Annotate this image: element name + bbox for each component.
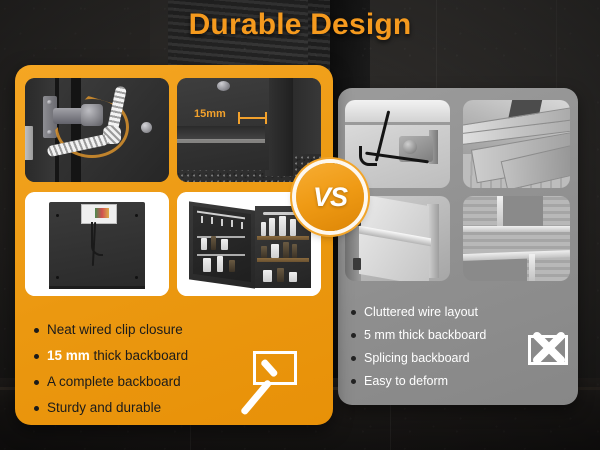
good-bullet-2-highlight: 15 mm	[47, 348, 90, 363]
bullet-dot-icon	[351, 379, 356, 384]
bullet-dot-icon	[34, 354, 39, 359]
good-bullet-4: Sturdy and durable	[47, 400, 161, 416]
cross-icon	[525, 325, 573, 371]
bullet-dot-icon	[34, 380, 39, 385]
list-item: 15 mm thick backboard	[34, 348, 259, 364]
bad-bullet-3: Splicing backboard	[364, 350, 470, 366]
dimension-cap-left	[238, 112, 240, 124]
bullet-dot-icon	[34, 328, 39, 333]
spliced-backboard-photo	[463, 196, 570, 281]
dimension-line	[239, 117, 267, 119]
bullet-dot-icon	[34, 406, 39, 411]
vs-badge: VS	[296, 163, 364, 231]
check-icon	[249, 341, 303, 389]
list-item: Splicing backboard	[351, 350, 526, 366]
vs-badge-label: VS	[313, 182, 347, 213]
good-bullet-1: Neat wired clip closure	[47, 322, 183, 338]
cabinet-backboard-photo	[25, 192, 169, 296]
thickness-measure-photo: 15mm	[177, 78, 321, 182]
bullet-dot-icon	[351, 356, 356, 361]
bad-bullet-4: Easy to deform	[364, 373, 448, 389]
good-bullet-2: 15 mm thick backboard	[47, 348, 188, 364]
hinge-wire-clip-photo	[25, 78, 169, 182]
dimension-label-15mm: 15mm	[194, 108, 226, 120]
bullet-dot-icon	[351, 333, 356, 338]
list-item: 5 mm thick backboard	[351, 327, 526, 343]
good-bullet-2-rest: thick backboard	[90, 348, 188, 363]
tangled-wire-hinge-photo	[345, 100, 450, 188]
bad-bullet-1: Cluttered wire layout	[364, 304, 478, 320]
bullet-dot-icon	[351, 310, 356, 315]
good-feature-list: Neat wired clip closure 15 mm thick back…	[34, 322, 259, 426]
bad-bullet-2: 5 mm thick backboard	[364, 327, 486, 343]
list-item: Cluttered wire layout	[351, 304, 526, 320]
bad-feature-list: Cluttered wire layout 5 mm thick backboa…	[351, 304, 526, 396]
list-item: Sturdy and durable	[34, 400, 259, 416]
good-bullet-3: A complete backboard	[47, 374, 181, 390]
page-title: Durable Design	[0, 8, 600, 42]
stacked-boards-photo	[463, 100, 570, 188]
list-item: A complete backboard	[34, 374, 259, 390]
list-item: Easy to deform	[351, 373, 526, 389]
list-item: Neat wired clip closure	[34, 322, 259, 338]
dimension-cap-right	[265, 112, 267, 124]
